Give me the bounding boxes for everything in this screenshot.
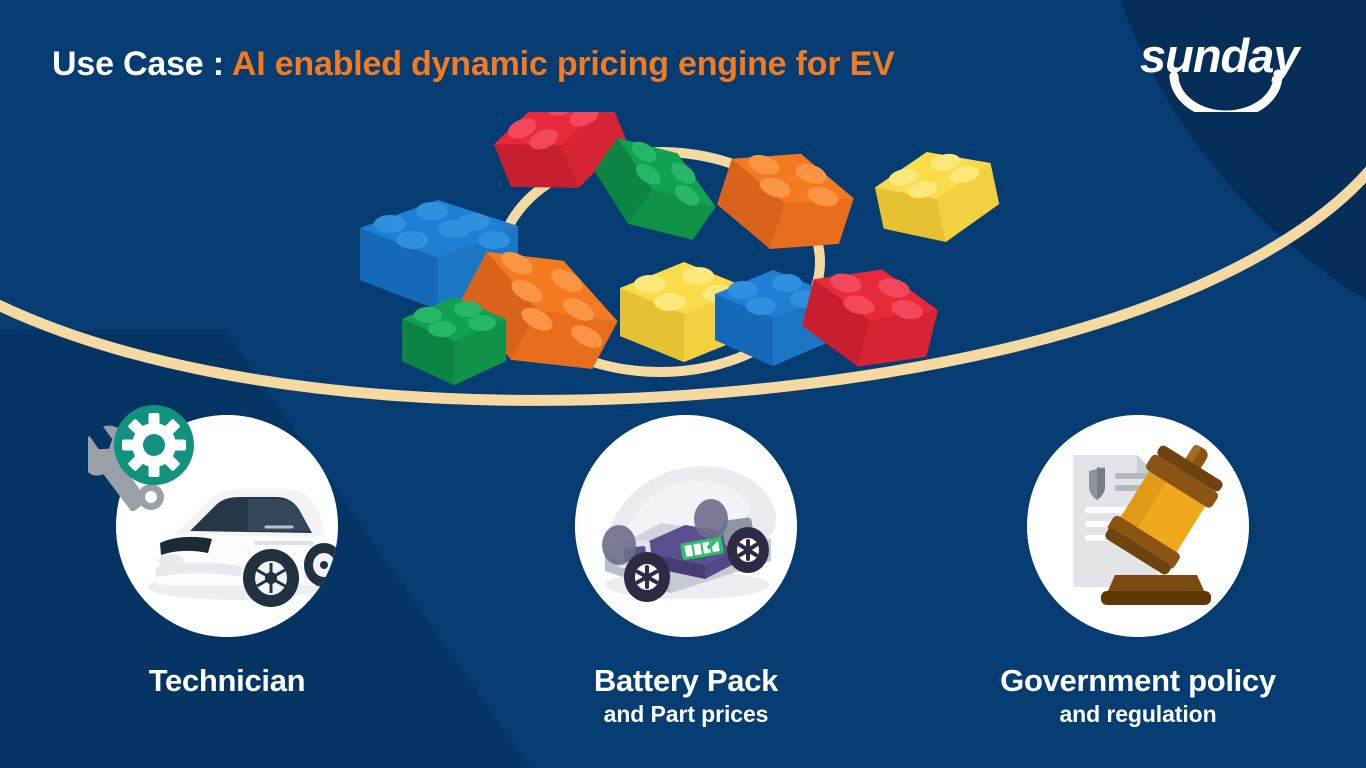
technician-circle: [116, 415, 338, 637]
gavel-base: [1101, 575, 1211, 605]
brick-yellow-right: [870, 139, 1005, 254]
slide-header: Use Case : AI enabled dynamic pricing en…: [0, 0, 1366, 120]
card-battery-pack[interactable]: Battery Pack and Part prices: [536, 415, 836, 726]
title-accent-text: AI enabled dynamic pricing engine for EV: [232, 45, 895, 83]
gavel-document-svg: [1027, 415, 1249, 637]
government-policy-title: Government policy: [988, 665, 1288, 698]
gavel-document-icon: [1027, 415, 1249, 637]
sunday-logo-mark: sunday: [1136, 30, 1322, 112]
slide-root: Use Case : AI enabled dynamic pricing en…: [0, 0, 1366, 768]
government-policy-caption: Government policy and regulation: [988, 665, 1288, 726]
government-policy-circle: [1027, 415, 1249, 637]
gear-wrench-svg: [88, 403, 206, 511]
battery-pack-circle: [575, 415, 797, 637]
battery-pack-subtitle: and Part prices: [536, 702, 836, 726]
gear-icon: [114, 405, 194, 485]
ev-battery-chassis-icon: [575, 415, 797, 637]
government-policy-subtitle: and regulation: [988, 702, 1288, 726]
title-static-text: Use Case :: [52, 45, 232, 83]
lego-bricks-illustration: [330, 112, 1010, 412]
car-wheel-front: [243, 549, 299, 607]
lego-bricks-svg: [330, 112, 1010, 412]
technician-caption: Technician: [77, 665, 377, 698]
card-government-policy[interactable]: Government policy and regulation: [988, 415, 1288, 726]
battery-pack-caption: Battery Pack and Part prices: [536, 665, 836, 726]
cards-row: Technician: [0, 415, 1366, 745]
gear-wrench-badge: [88, 403, 206, 511]
ev-chassis-svg: [575, 415, 797, 637]
technician-title: Technician: [77, 665, 377, 698]
brick-orange-right: [709, 134, 862, 269]
sunday-logo: sunday: [1136, 30, 1322, 112]
battery-pack-title: Battery Pack: [536, 665, 836, 698]
page-title: Use Case : AI enabled dynamic pricing en…: [52, 47, 895, 81]
card-technician[interactable]: Technician: [77, 415, 377, 698]
